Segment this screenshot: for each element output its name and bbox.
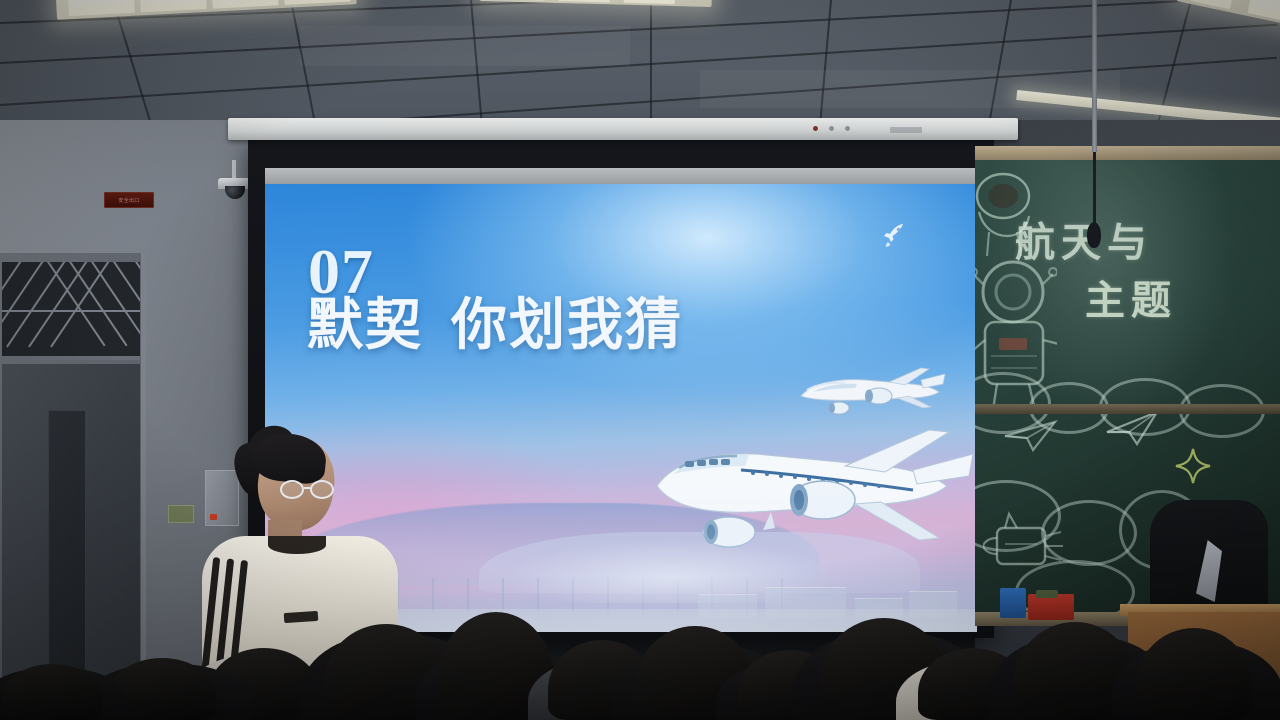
exit-sign: 安全出口 (104, 192, 154, 208)
glasses-icon (280, 480, 342, 506)
classroom-scene: 安全出口 (0, 0, 1280, 720)
audience (0, 530, 1280, 720)
exit-sign-label: 安全出口 (118, 197, 139, 204)
housing-label (890, 127, 922, 133)
slide-title-part1: 默契 (307, 293, 423, 358)
slide-title-part2: 你划我猜 (451, 293, 683, 358)
rocket-icon (881, 220, 913, 252)
hanging-rod (1092, 0, 1097, 152)
hanging-cord (1093, 152, 1096, 226)
paper-plane-doodle (1103, 410, 1161, 446)
screen-top-margin (265, 168, 977, 184)
screen-roller-housing (228, 118, 1018, 140)
paper-plane-doodle (1003, 418, 1059, 452)
blackboard-chalk-line2: 主题 (1085, 268, 1177, 326)
security-camera-icon (218, 178, 252, 200)
wall-plate (168, 505, 194, 523)
hanging-weight (1087, 222, 1101, 248)
slide-title: 默契你划我猜 (307, 297, 683, 356)
housing-indicator-dots (813, 126, 850, 131)
star-doodle (1175, 448, 1211, 484)
blackboard-chalk-line1: 航天与 (1015, 210, 1153, 268)
airliner-small-icon (793, 364, 947, 436)
door-transom-grille (2, 262, 140, 360)
blackboard-divider (975, 404, 1280, 414)
blackboard-top-frame (975, 146, 1280, 160)
audience-head (1136, 628, 1252, 720)
grille-pattern (2, 262, 140, 356)
